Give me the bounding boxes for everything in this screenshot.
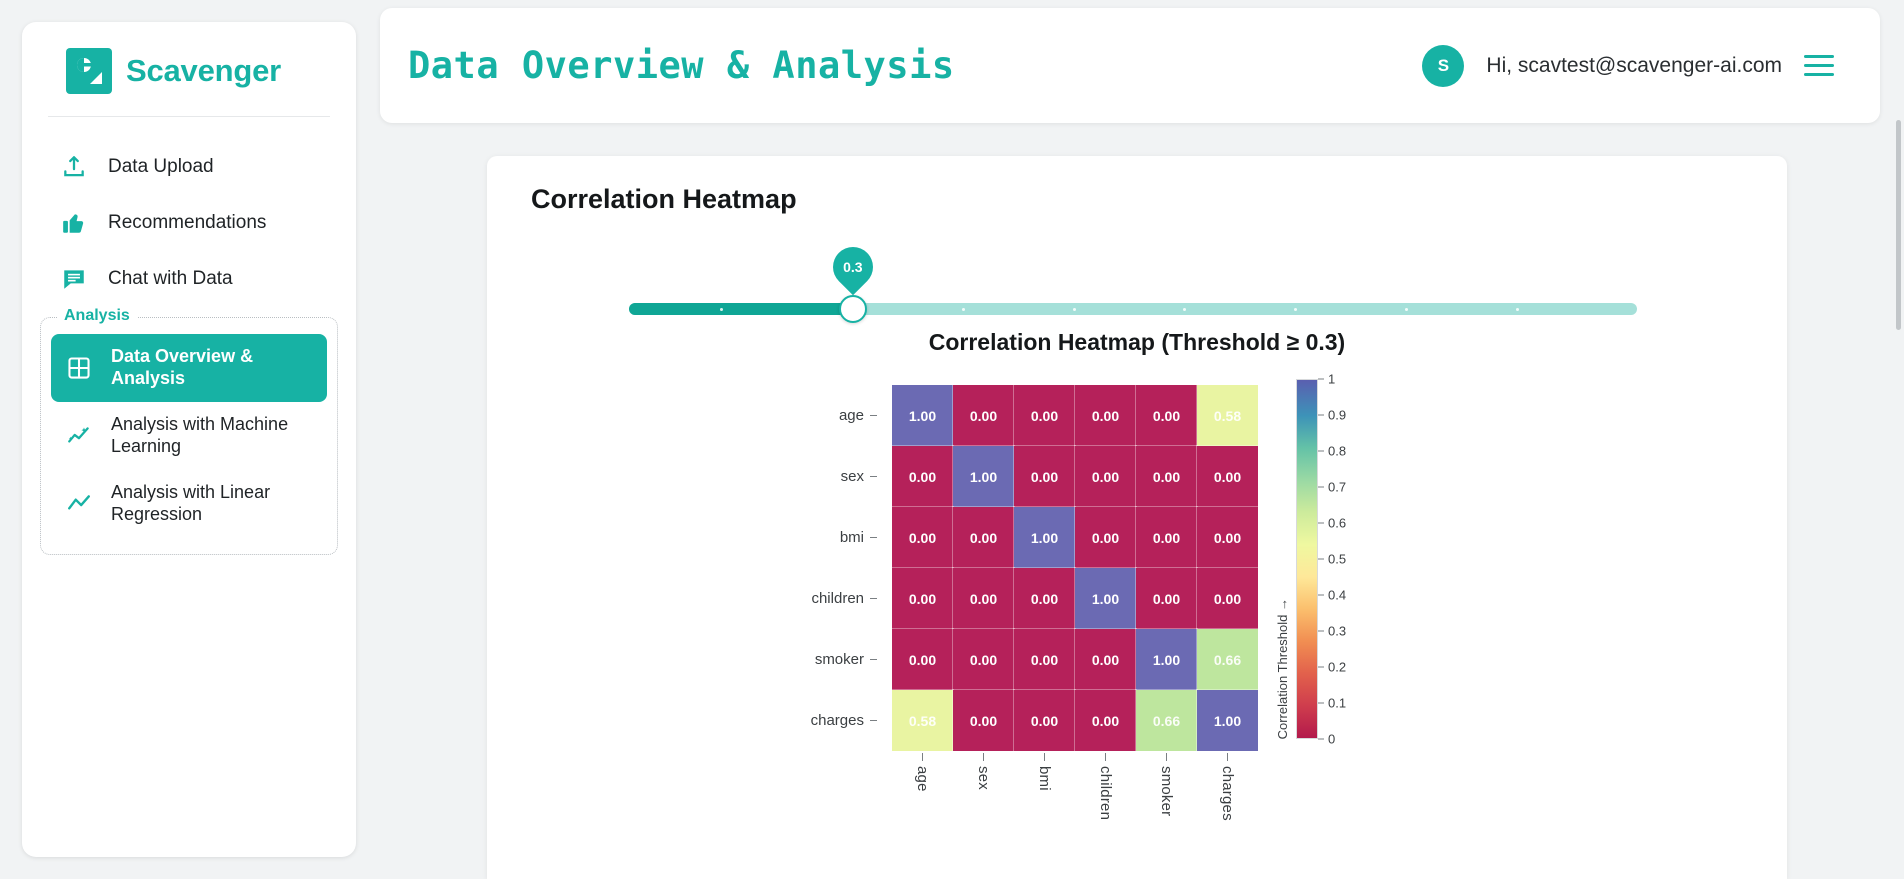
colorbar-tick: 0.6 [1318,516,1346,531]
colorbar-tick: 0.8 [1318,444,1346,459]
slider-tick [1294,308,1297,311]
sidebar-group-analysis: Analysis Data Overview & Analysis [40,317,338,555]
heatmap-cell[interactable]: 0.00 [1075,507,1136,568]
colorbar-tick: 0.9 [1318,408,1346,423]
heatmap-x-tick-label: charges [1197,753,1258,853]
chat-bubble-icon [60,265,88,293]
section-title: Correlation Heatmap [487,156,1787,215]
top-header: Data Overview & Analysis S Hi, scavtest@… [380,8,1880,123]
heatmap-cell[interactable]: 0.00 [1136,507,1197,568]
heatmap-cell[interactable]: 0.00 [1136,568,1197,629]
heatmap-cell[interactable]: 1.00 [1136,629,1197,690]
heatmap-grid: 1.000.000.000.000.000.580.001.000.000.00… [892,385,1258,751]
avatar[interactable]: S [1422,45,1464,87]
sidebar-group-title: Analysis [57,307,137,325]
sidebar-item-label: Data Overview & Analysis [111,346,315,390]
sidebar-item-analysis-machine-learning[interactable]: Analysis with Machine Learning [51,402,327,470]
heatmap-cell[interactable]: 0.00 [1014,385,1075,446]
sidebar-item-recommendations[interactable]: Recommendations [22,195,356,251]
heatmap-cell[interactable]: 0.58 [892,690,953,751]
colorbar-gradient [1296,379,1318,739]
heatmap-y-tick-label: charges [737,690,885,751]
slider-tick [1073,308,1076,311]
correlation-heatmap-plot: Correlation Heatmap (Threshold ≥ 0.3) ag… [487,327,1787,872]
heatmap-cell[interactable]: 0.00 [953,507,1014,568]
sidebar-item-analysis-linear-regression[interactable]: Analysis with Linear Regression [51,470,327,538]
colorbar-tick: 0.3 [1318,624,1346,639]
heatmap-cell[interactable]: 0.66 [1136,690,1197,751]
heatmap-cell[interactable]: 0.00 [953,690,1014,751]
brand-logo[interactable]: Scavenger [22,22,356,116]
sidebar-item-data-upload[interactable]: Data Upload [22,139,356,195]
heatmap-cell[interactable]: 0.00 [1075,446,1136,507]
colorbar-ticks: 10.90.80.70.60.50.40.30.20.10 [1318,379,1362,739]
heatmap-x-tick-label: sex [953,753,1014,853]
heatmap-cell[interactable]: 0.00 [1014,446,1075,507]
heatmap-cell[interactable]: 0.00 [892,568,953,629]
sidebar: Scavenger Data Upload [22,22,356,857]
colorbar-tick: 0.5 [1318,552,1346,567]
heatmap-cell[interactable]: 0.00 [1197,446,1258,507]
heatmap-cell[interactable]: 0.00 [1075,629,1136,690]
heatmap-x-tick-label: age [892,753,953,853]
sidebar-item-label: Analysis with Linear Regression [111,482,315,526]
heatmap-cell[interactable]: 0.00 [1075,385,1136,446]
slider-track-fill [629,303,853,315]
grid-table-icon [65,354,93,382]
user-greeting: Hi, scavtest@scavenger-ai.com [1486,54,1782,78]
threshold-slider[interactable]: 0.3 [487,251,1787,327]
main-content-panel: Correlation Heatmap 0.3 Correlation Heat… [487,156,1787,879]
heatmap-cell[interactable]: 0.00 [1136,385,1197,446]
heatmap-colorbar: Correlation Threshold → 10.90.80.70.60.5… [1275,379,1362,739]
heatmap-cell[interactable]: 0.00 [1014,629,1075,690]
user-zone: S Hi, scavtest@scavenger-ai.com [1422,45,1834,87]
heatmap-x-tick-label: smoker [1136,753,1197,853]
heatmap-x-axis: agesexbmichildrensmokercharges [892,753,1258,853]
heatmap-cell[interactable]: 0.00 [953,568,1014,629]
heatmap-cell[interactable]: 0.00 [892,446,953,507]
slider-track-row[interactable]: 0.3 [629,303,1637,315]
hamburger-menu-icon[interactable] [1804,55,1834,76]
heatmap-grid-area: 1.000.000.000.000.000.580.001.000.000.00… [892,385,1258,751]
colorbar-tick: 0.1 [1318,696,1346,711]
colorbar-axis-label: Correlation Threshold → [1275,594,1290,739]
colorbar-tick: 1 [1318,372,1335,387]
slider-tick [1405,308,1408,311]
slider-tick [720,308,723,311]
heatmap-y-tick-label: smoker [737,629,885,690]
plot-title: Correlation Heatmap (Threshold ≥ 0.3) [487,327,1787,356]
heatmap-y-tick-label: bmi [737,507,885,568]
sidebar-item-label: Data Upload [108,155,214,179]
sidebar-item-label: Recommendations [108,211,266,235]
heatmap-cell[interactable]: 0.00 [1136,446,1197,507]
colorbar-tick: 0.7 [1318,480,1346,495]
sidebar-item-label: Analysis with Machine Learning [111,414,315,458]
slider-value-label: 0.3 [843,259,862,275]
heatmap-cell[interactable]: 1.00 [1075,568,1136,629]
colorbar-tick: 0 [1318,732,1335,747]
sidebar-item-label: Chat with Data [108,267,233,291]
slider-handle[interactable] [839,295,867,323]
thumbs-up-icon [60,209,88,237]
heatmap-cell[interactable]: 1.00 [892,385,953,446]
heatmap-y-tick-label: sex [737,446,885,507]
heatmap-cell[interactable]: 0.00 [1197,507,1258,568]
heatmap-cell[interactable]: 1.00 [1197,690,1258,751]
colorbar-tick: 0.4 [1318,588,1346,603]
heatmap-y-axis: agesexbmichildrensmokercharges [737,385,885,751]
slider-tick [1516,308,1519,311]
sidebar-item-chat-with-data[interactable]: Chat with Data [22,251,356,307]
line-chart-icon [65,490,93,518]
heatmap-cell[interactable]: 0.00 [1197,568,1258,629]
sparkle-trend-icon [65,422,93,450]
heatmap-cell[interactable]: 0.00 [1075,690,1136,751]
heatmap-y-tick-label: age [737,385,885,446]
heatmap-cell[interactable]: 0.66 [1197,629,1258,690]
heatmap-cell[interactable]: 1.00 [953,446,1014,507]
heatmap-x-tick-label: bmi [1014,753,1075,853]
heatmap-y-tick-label: children [737,568,885,629]
heatmap-cell[interactable]: 0.00 [1014,690,1075,751]
scavenger-logo-icon [66,48,112,94]
heatmap-cell[interactable]: 0.00 [1014,568,1075,629]
heatmap-cell[interactable]: 0.00 [892,507,953,568]
heatmap-x-tick-label: children [1075,753,1136,853]
sidebar-nav: Data Upload Recommendations [22,117,356,555]
heatmap-cell[interactable]: 0.00 [953,385,1014,446]
application-root: Scavenger Data Upload [0,0,1904,879]
page-scrollbar[interactable] [1896,120,1901,330]
sidebar-item-data-overview-analysis[interactable]: Data Overview & Analysis [51,334,327,402]
brand-name: Scavenger [126,53,281,89]
heatmap-cell[interactable]: 0.00 [953,629,1014,690]
heatmap-cell[interactable]: 0.58 [1197,385,1258,446]
heatmap-cell[interactable]: 0.00 [892,629,953,690]
slider-tick [962,308,965,311]
colorbar-tick: 0.2 [1318,660,1346,675]
slider-value-bubble: 0.3 [824,239,881,296]
page-title: Data Overview & Analysis [408,44,955,87]
heatmap-cell[interactable]: 1.00 [1014,507,1075,568]
upload-icon [60,153,88,181]
